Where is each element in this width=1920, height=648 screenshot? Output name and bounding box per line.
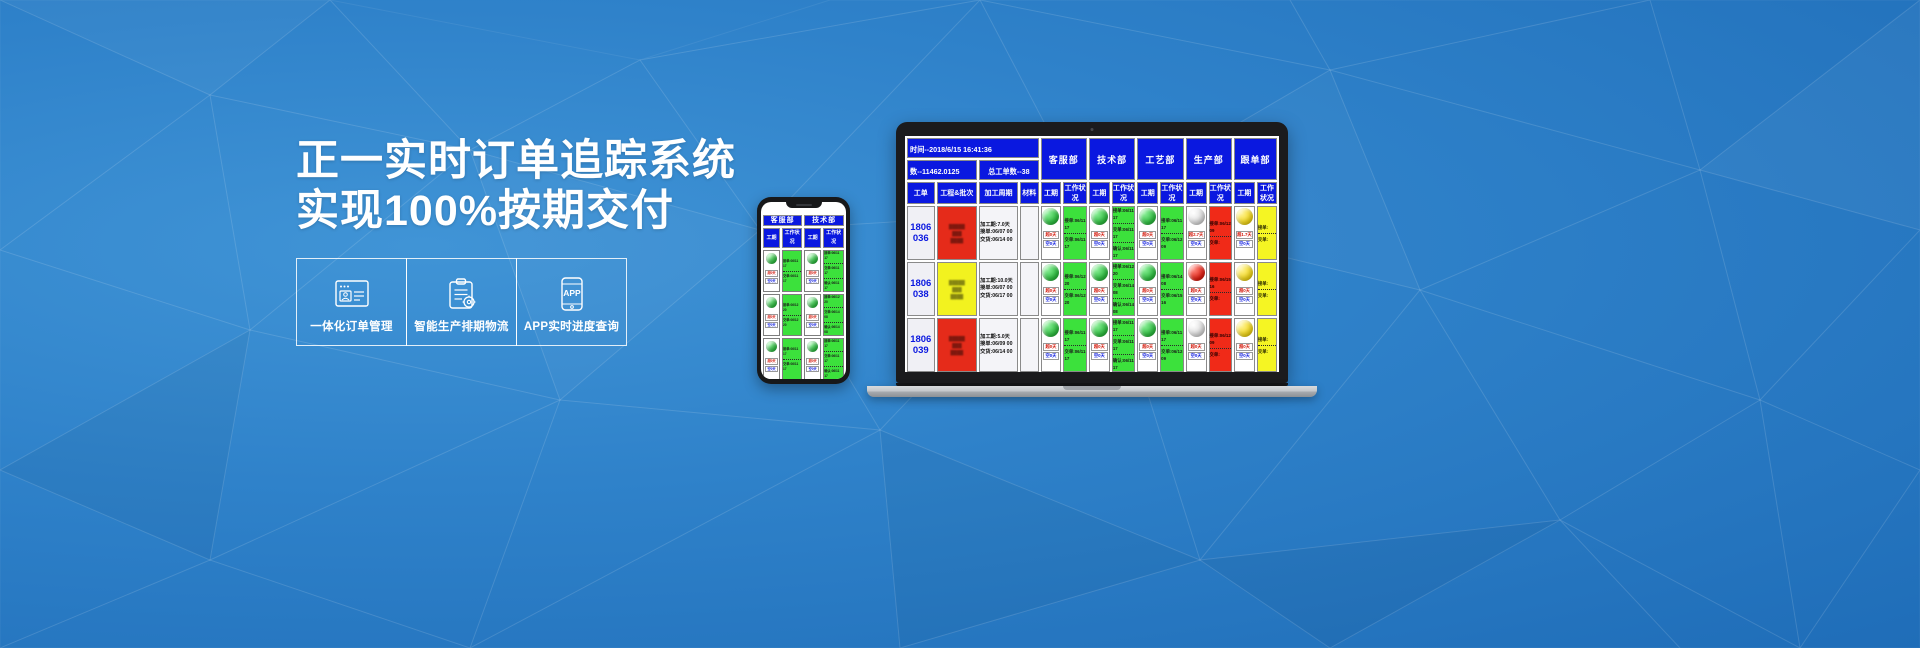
status-lamp-red — [1188, 264, 1205, 281]
phone-duration-cell: 超0天空0天 — [804, 250, 821, 292]
overdue-tag: 超0天 — [1043, 231, 1060, 239]
laptop-device: 时间--2018/6/15 16:41:36 客服部 技术部 工艺部 生产部 跟… — [867, 122, 1317, 397]
webcam-icon — [1091, 128, 1094, 131]
status-received: 接单:06/14 08 — [1161, 273, 1182, 287]
status-delivered: 交单:06/12 20 — [1064, 292, 1085, 306]
phone-col-status-tech: 工作状况 — [823, 228, 844, 248]
col-status-cs: 工作状况 — [1063, 182, 1086, 204]
status-lamp-white — [1188, 208, 1205, 225]
material-cell — [1020, 262, 1039, 316]
status-received: 接单:06/12 20 — [1113, 263, 1134, 277]
duration-cell: 超0天空0天 — [1234, 262, 1255, 316]
col-duration-merch: 工期 — [1234, 182, 1255, 204]
duration-cell: 超0天空0天 — [1041, 318, 1062, 372]
duration-cell: 超0天空0天 — [1041, 206, 1062, 260]
overdue-tag: 超0天 — [765, 270, 778, 277]
work-status-cell: 接单:06/11 17交单:06/12 09 — [1160, 206, 1183, 260]
duration-cell: 超0天空0天 — [1089, 206, 1110, 260]
idle-tag: 空0天 — [1043, 240, 1060, 248]
status-delivered: 交单:06/11 17 — [783, 362, 801, 372]
overdue-tag: 超0天 — [765, 358, 778, 365]
status-divider — [1210, 236, 1231, 237]
work-status-cell: 接单:交单: — [1257, 206, 1277, 260]
work-status-cell: 接单:06/12 09交单: — [1209, 318, 1232, 372]
work-status-cell: 接单:06/11 17交单:06/12 09 — [1160, 318, 1183, 372]
status-lamp-white — [1188, 320, 1205, 337]
status-delivered: 交单:06/14 08 — [1113, 282, 1134, 296]
title-bar-row: 时间--2018/6/15 16:41:36 客服部 技术部 工艺部 生产部 跟… — [907, 138, 1277, 158]
status-divider — [1210, 348, 1231, 349]
idle-tag: 空0天 — [1188, 296, 1205, 304]
status-divider — [783, 359, 801, 360]
project-batch-text: ████████████ — [938, 220, 977, 247]
idle-tag: 空0天 — [1091, 240, 1108, 248]
status-received: 接单:06/11 17 — [1113, 319, 1134, 333]
status-divider — [783, 271, 801, 272]
status-divider — [1064, 289, 1085, 290]
phone-col-status-cs: 工作状况 — [782, 228, 802, 248]
status-divider — [1161, 233, 1182, 234]
status-divider — [1258, 289, 1276, 290]
status-received: 接单: — [1258, 336, 1276, 343]
material-cell — [1020, 318, 1039, 372]
phone-department-header-row: 客服部 技术部 — [763, 215, 844, 226]
phone-col-duration-cs: 工期 — [763, 228, 780, 248]
status-lamp-green — [766, 341, 777, 352]
phone-duration-cell: 超0天空0天 — [804, 338, 821, 379]
duration-cell: 超0天空0天 — [1186, 262, 1207, 316]
laptop-lid: 时间--2018/6/15 16:41:36 客服部 技术部 工艺部 生产部 跟… — [896, 122, 1288, 383]
duration-cell: 超0天空0天 — [1137, 318, 1158, 372]
overdue-tag: 超2.7天 — [1188, 231, 1205, 239]
idle-tag: 空0天 — [1236, 296, 1253, 304]
work-order-cell: 1806039 — [907, 318, 935, 372]
status-divider — [1210, 292, 1231, 293]
status-lamp-green — [1091, 208, 1108, 225]
status-received: 接单:06/12 20 — [1064, 273, 1085, 287]
status-delivered: 交单:06/12 20 — [783, 318, 801, 328]
status-divider — [1161, 345, 1182, 346]
status-delivered: 交单:06/11 17 — [1064, 236, 1085, 250]
laptop-screen: 时间--2018/6/15 16:41:36 客服部 技术部 工艺部 生产部 跟… — [905, 136, 1279, 372]
col-status-tech: 工作状况 — [1112, 182, 1135, 204]
status-confirmed: 确认:06/14 08 — [824, 325, 843, 335]
status-delivered: 交单: — [1210, 351, 1231, 358]
duration-cell: 超0天空0天 — [1041, 262, 1062, 316]
quantity-text: 数--11462.0125 — [908, 167, 960, 176]
table-row[interactable]: 1806039████████████加工期:5.0天接单:06/09 00交货… — [907, 318, 1277, 372]
col-status-prod: 工作状况 — [1209, 182, 1232, 204]
idle-tag: 空0天 — [1091, 352, 1108, 360]
table-row[interactable]: 1806036████████████加工期:7.0天接单:06/07 00交货… — [907, 206, 1277, 260]
status-divider — [824, 307, 843, 308]
work-status-cell: 接单:06/12 20交单:06/14 08确认:06/14 08 — [1112, 262, 1135, 316]
phone-work-status-cell: 接单:06/12 20交单:06/12 20 — [782, 294, 802, 336]
phone-table-row[interactable]: 超0天空0天接单:06/11 17交单:06/11 17超0天空0天接单:06/… — [763, 338, 844, 379]
work-order-prefix: 1806 — [908, 334, 934, 345]
status-lamp-green — [807, 297, 818, 308]
status-delivered: 交单:06/11 17 — [783, 274, 801, 284]
idle-tag: 空0天 — [1043, 296, 1060, 304]
phone-col-duration-tech: 工期 — [804, 228, 821, 248]
idle-tag: 空0天 — [1139, 240, 1156, 248]
idle-tag: 空0天 — [806, 278, 819, 285]
dept-process: 工艺部 — [1137, 138, 1183, 180]
work-status-cell: 接单:06/11 17交单:06/11 17确认:06/11 17 — [1112, 206, 1135, 260]
title-clock-cell: 时间--2018/6/15 16:41:36 — [907, 138, 1039, 158]
phone-duration-cell: 超0天空0天 — [763, 338, 780, 379]
overdue-tag: 超0天 — [806, 358, 819, 365]
status-delivered: 交单:06/11 17 — [1113, 226, 1134, 240]
phone-speaker — [796, 204, 812, 206]
phone-work-status-cell: 接单:06/12 20交单:06/14 08确认:06/14 08 — [823, 294, 844, 336]
overdue-tag: 超0天 — [806, 270, 819, 277]
status-lamp-green — [807, 341, 818, 352]
cycle-cell: 加工期:7.0天接单:06/07 00交货:06/14 00 — [979, 206, 1018, 260]
idle-tag: 空0天 — [1188, 352, 1205, 360]
duration-cell: 超0天空0天 — [1186, 318, 1207, 372]
status-lamp-green — [766, 297, 777, 308]
work-order-prefix: 1806 — [908, 278, 934, 289]
cycle-cell: 加工期:5.0天接单:06/09 00交货:06/14 00 — [979, 318, 1018, 372]
clock-text: 时间--2018/6/15 16:41:36 — [908, 145, 992, 154]
status-received: 接单:06/11 17 — [1064, 329, 1085, 343]
status-lamp-green — [1139, 264, 1156, 281]
phone-work-status-cell: 接单:06/11 17交单:06/11 17 — [782, 250, 802, 292]
status-received: 接单:06/11 17 — [783, 259, 801, 269]
overdue-tag: 超0天 — [1188, 343, 1205, 351]
cycle-cell: 加工期:10.0天接单:06/07 00交货:06/17 00 — [979, 262, 1018, 316]
phone-work-status-cell: 接单:06/11 17交单:06/11 17确认:06/11 17 — [823, 338, 844, 379]
total-orders-cell: 总工单数--38 — [979, 160, 1038, 180]
project-batch-cell: ████████████ — [937, 206, 978, 260]
status-delivered: 交单:06/11 17 — [1113, 338, 1134, 352]
status-delivered: 交单:06/12 09 — [1161, 348, 1182, 362]
work-status-cell: 接单:06/12 09交单: — [1209, 206, 1232, 260]
work-status-cell: 接单:06/11 17交单:06/11 17 — [1063, 206, 1086, 260]
material-cell — [1020, 206, 1039, 260]
overdue-tag: 超0天 — [1043, 287, 1060, 295]
dept-production: 生产部 — [1186, 138, 1232, 180]
work-status-cell: 接单:06/14 08交单:06/15 16 — [1160, 262, 1183, 316]
work-status-cell: 接单:06/12 20交单:06/12 20 — [1063, 262, 1086, 316]
status-delivered: 交单: — [1258, 236, 1276, 243]
overdue-tag: 超0天 — [1139, 343, 1156, 351]
phone-duration-cell: 超0天空0天 — [763, 294, 780, 336]
work-order-suffix: 036 — [908, 233, 934, 244]
overdue-tag: 超0天 — [1091, 343, 1108, 351]
status-divider — [1064, 345, 1085, 346]
status-received: 接单:06/11 17 — [783, 347, 801, 357]
cycle-received: 接单:06/07 00 — [980, 285, 1017, 293]
status-received: 接单:06/11 17 — [824, 251, 843, 261]
laptop-base — [867, 386, 1317, 397]
overdue-tag: 超0天 — [1043, 343, 1060, 351]
status-delivered: 交单:06/11 17 — [824, 354, 843, 364]
work-status-cell: 接单:06/15 16交单: — [1209, 262, 1232, 316]
status-divider — [1258, 345, 1276, 346]
work-status-cell: 接单:06/11 17交单:06/11 17 — [1063, 318, 1086, 372]
status-lamp-yellow — [1236, 208, 1253, 225]
status-lamp-yellow — [1236, 320, 1253, 337]
overdue-tag: 超0天 — [1091, 287, 1108, 295]
cycle-delivery: 交货:06/17 00 — [980, 293, 1017, 301]
phone-dashboard-table[interactable]: 客服部 技术部 工期 工作状况 工期 工作状况 超0天空0天接单:06/11 1… — [761, 213, 846, 379]
status-received: 接单:06/12 09 — [1210, 220, 1231, 234]
status-lamp-green — [1042, 320, 1059, 337]
idle-tag: 空0天 — [1043, 352, 1060, 360]
col-project-batch: 工程&批次 — [937, 182, 978, 204]
status-delivered: 交单:06/11 17 — [1064, 348, 1085, 362]
status-divider — [1161, 289, 1182, 290]
overdue-tag: 超0天 — [806, 314, 819, 321]
status-confirmed: 确认:06/11 17 — [824, 281, 843, 291]
status-divider — [824, 263, 843, 264]
idle-tag: 空0天 — [806, 366, 819, 373]
status-divider2 — [824, 366, 843, 367]
status-divider — [1113, 279, 1134, 280]
phone-body: 客服部 技术部 工期 工作状况 工期 工作状况 超0天空0天接单:06/11 1… — [757, 197, 850, 384]
cycle-received: 接单:06/09 00 — [980, 341, 1017, 349]
status-received: 接单:06/12 09 — [1210, 332, 1231, 346]
idle-tag: 空0天 — [1236, 352, 1253, 360]
status-divider2 — [1113, 298, 1134, 299]
phone-duration-cell: 超0天空0天 — [763, 250, 780, 292]
idle-tag: 空0天 — [765, 366, 778, 373]
status-delivered: 交单: — [1210, 295, 1231, 302]
work-status-cell: 接单:06/11 17交单:06/11 17确认:06/11 17 — [1112, 318, 1135, 372]
col-status-merch: 工作状况 — [1257, 182, 1277, 204]
status-confirmed: 确认:06/11 17 — [1113, 245, 1134, 259]
dept-customer-service: 客服部 — [1041, 138, 1087, 180]
status-divider2 — [1113, 242, 1134, 243]
idle-tag: 空0天 — [1139, 296, 1156, 304]
idle-tag: 空0天 — [1188, 240, 1205, 248]
col-work-order: 工单 — [907, 182, 935, 204]
phone-duration-cell: 超0天空0天 — [804, 294, 821, 336]
col-material: 材料 — [1020, 182, 1039, 204]
phone-screen: 客服部 技术部 工期 工作状况 工期 工作状况 超0天空0天接单:06/11 1… — [761, 202, 846, 379]
work-order-cell: 1806036 — [907, 206, 935, 260]
status-divider2 — [1113, 354, 1134, 355]
status-divider — [824, 351, 843, 352]
idle-tag: 空0天 — [1139, 352, 1156, 360]
phone-dept-customer-service: 客服部 — [763, 215, 802, 226]
status-divider — [1113, 335, 1134, 336]
status-confirmed: 确认:06/11 17 — [1113, 357, 1134, 371]
col-duration-cs: 工期 — [1041, 182, 1062, 204]
status-divider — [1113, 223, 1134, 224]
work-order-cell: 1806038 — [907, 262, 935, 316]
phone-table-row[interactable]: 超0天空0天接单:06/11 17交单:06/11 17超0天空0天接单:06/… — [763, 250, 844, 292]
status-delivered: 交单:06/15 16 — [1161, 292, 1182, 306]
status-divider — [1064, 233, 1085, 234]
laptop-base-notch — [1063, 386, 1121, 390]
work-status-cell: 接单:交单: — [1257, 262, 1277, 316]
dept-merchandising: 跟单部 — [1234, 138, 1277, 180]
col-duration-prod: 工期 — [1186, 182, 1207, 204]
work-order-prefix: 1806 — [908, 222, 934, 233]
idle-tag: 空0天 — [1091, 296, 1108, 304]
idle-tag: 空0天 — [765, 278, 778, 285]
status-received: 接单:06/12 20 — [783, 303, 801, 313]
status-delivered: 交单:06/12 09 — [1161, 236, 1182, 250]
col-cycle: 加工周期 — [979, 182, 1018, 204]
status-confirmed: 确认:06/11 17 — [824, 369, 843, 379]
col-duration-tech: 工期 — [1089, 182, 1110, 204]
duration-cell: 超0天空0天 — [1234, 318, 1255, 372]
table-row[interactable]: 1806038████████████加工期:10.0天接单:06/07 00交… — [907, 262, 1277, 316]
project-batch-cell: ████████████ — [937, 262, 978, 316]
project-batch-text: ████████████ — [938, 276, 977, 303]
cycle-delivery: 交货:06/14 00 — [980, 349, 1017, 357]
phone-work-status-cell: 接单:06/11 17交单:06/11 17确认:06/11 17 — [823, 250, 844, 292]
status-lamp-green — [1139, 208, 1156, 225]
status-received: 接单:06/11 17 — [1161, 217, 1182, 231]
project-batch-cell: ████████████ — [937, 318, 978, 372]
overdue-tag: 超0天 — [1236, 287, 1253, 295]
status-divider2 — [824, 322, 843, 323]
overdue-tag: 超0天 — [1091, 231, 1108, 239]
column-header-row: 工单 工程&批次 加工周期 材料 工期 工作状况 工期 工作状况 工期 工作状况… — [907, 182, 1277, 204]
overdue-tag: 超0天 — [1139, 231, 1156, 239]
phone-work-status-cell: 接单:06/11 17交单:06/11 17 — [782, 338, 802, 379]
project-batch-text: ████████████ — [938, 332, 977, 359]
overdue-tag: 超0天 — [1188, 287, 1205, 295]
status-delivered: 交单: — [1258, 348, 1276, 355]
work-status-cell: 接单:交单: — [1257, 318, 1277, 372]
status-received: 接单:06/12 20 — [824, 295, 843, 305]
status-lamp-green — [766, 253, 777, 264]
work-order-suffix: 039 — [908, 345, 934, 356]
total-orders-text: 总工单数--38 — [988, 167, 1030, 176]
status-delivered: 交单: — [1210, 239, 1231, 246]
status-delivered: 交单:06/14 08 — [824, 310, 843, 320]
status-confirmed: 确认:06/14 08 — [1113, 301, 1134, 315]
status-lamp-green — [1091, 320, 1108, 337]
status-divider — [1258, 233, 1276, 234]
duration-cell: 超0天空0天 — [1137, 262, 1158, 316]
status-received: 接单:06/11 17 — [824, 339, 843, 349]
idle-tag: 空0天 — [1236, 240, 1253, 248]
order-tracking-table[interactable]: 时间--2018/6/15 16:41:36 客服部 技术部 工艺部 生产部 跟… — [905, 136, 1279, 372]
cycle-delivery: 交货:06/14 00 — [980, 237, 1017, 245]
quantity-cell: 数--11462.0125 — [907, 160, 977, 180]
status-lamp-green — [1042, 264, 1059, 281]
status-lamp-green — [1091, 264, 1108, 281]
work-order-suffix: 038 — [908, 289, 934, 300]
dept-technical: 技术部 — [1089, 138, 1135, 180]
status-received: 接单:06/11 17 — [1064, 217, 1085, 231]
overdue-tag: 超1.7天 — [1236, 231, 1253, 239]
duration-cell: 超1.7天空0天 — [1234, 206, 1255, 260]
duration-cell: 超2.7天空0天 — [1186, 206, 1207, 260]
status-received: 接单: — [1258, 224, 1276, 231]
status-lamp-green — [1139, 320, 1156, 337]
phone-subcolumn-header-row: 工期 工作状况 工期 工作状况 — [763, 228, 844, 248]
duration-cell: 超0天空0天 — [1089, 262, 1110, 316]
duration-cell: 超0天空0天 — [1089, 318, 1110, 372]
col-duration-process: 工期 — [1137, 182, 1158, 204]
overdue-tag: 超0天 — [1236, 343, 1253, 351]
status-delivered: 交单: — [1258, 292, 1276, 299]
overdue-tag: 超0天 — [765, 314, 778, 321]
status-received: 接单:06/11 17 — [1113, 207, 1134, 221]
status-delivered: 交单:06/11 17 — [824, 266, 843, 276]
col-status-process: 工作状况 — [1160, 182, 1183, 204]
status-divider — [783, 315, 801, 316]
cycle-received: 接单:06/07 00 — [980, 229, 1017, 237]
phone-device: 客服部 技术部 工期 工作状况 工期 工作状况 超0天空0天接单:06/11 1… — [757, 197, 850, 384]
duration-cell: 超0天空0天 — [1137, 206, 1158, 260]
status-received: 接单:06/11 17 — [1161, 329, 1182, 343]
status-lamp-green — [1042, 208, 1059, 225]
idle-tag: 空0天 — [806, 322, 819, 329]
status-received: 接单: — [1258, 280, 1276, 287]
overdue-tag: 超0天 — [1139, 287, 1156, 295]
status-lamp-green — [807, 253, 818, 264]
phone-table-row[interactable]: 超0天空0天接单:06/12 20交单:06/12 20超0天空0天接单:06/… — [763, 294, 844, 336]
phone-dept-technical: 技术部 — [804, 215, 844, 226]
status-received: 接单:06/15 16 — [1210, 276, 1231, 290]
status-lamp-yellow — [1236, 264, 1253, 281]
idle-tag: 空0天 — [765, 322, 778, 329]
status-divider2 — [824, 278, 843, 279]
